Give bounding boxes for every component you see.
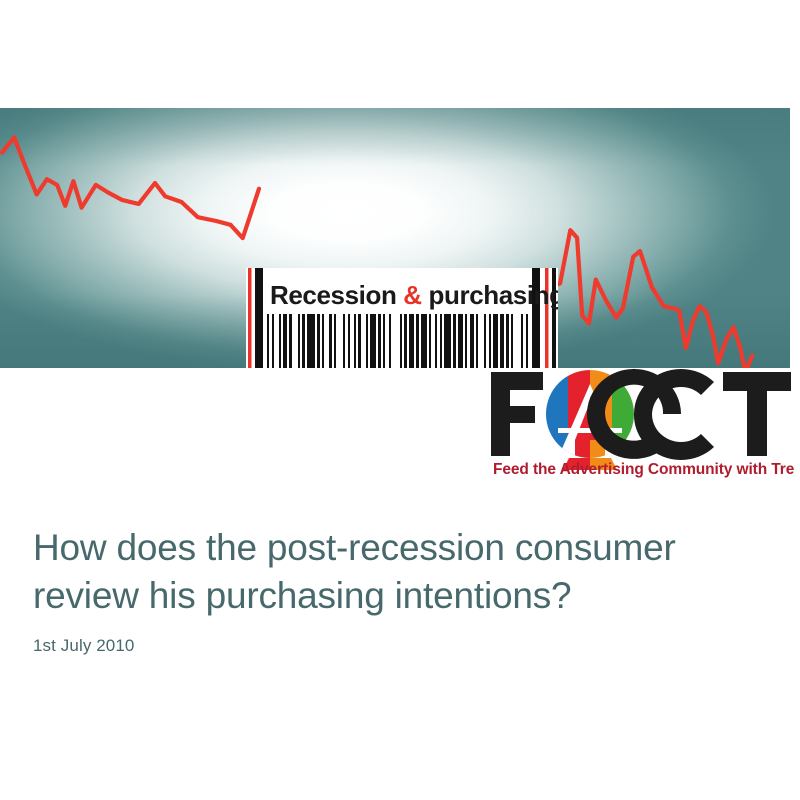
logo-tagline: Feed the Advertising Community with Tren… — [493, 461, 794, 478]
barcode-caption: Recession & purchasing intention — [270, 280, 558, 310]
page-title-line-2: review his purchasing intentions? — [33, 575, 571, 616]
lower-red-segment — [575, 440, 590, 458]
trend-line-right — [538, 230, 752, 368]
trend-line-left — [2, 137, 259, 238]
barcode-accent-left — [248, 268, 252, 368]
title-block: How does the post-recession consumer rev… — [33, 524, 763, 656]
page-title: How does the post-recession consumer rev… — [33, 524, 763, 620]
fact-logo: Feed the Advertising Community with Tren… — [489, 366, 794, 478]
logo-letter-f — [491, 372, 543, 456]
page-title-line-1: How does the post-recession consumer — [33, 527, 676, 568]
slide-root: Recession & purchasing intention — [0, 0, 800, 800]
logo-letter-t — [723, 372, 791, 456]
presentation-date: 1st July 2010 — [33, 636, 763, 656]
barcode-graphic: Recession & purchasing intention — [246, 268, 558, 368]
recession-banner-image: Recession & purchasing intention — [0, 108, 790, 368]
